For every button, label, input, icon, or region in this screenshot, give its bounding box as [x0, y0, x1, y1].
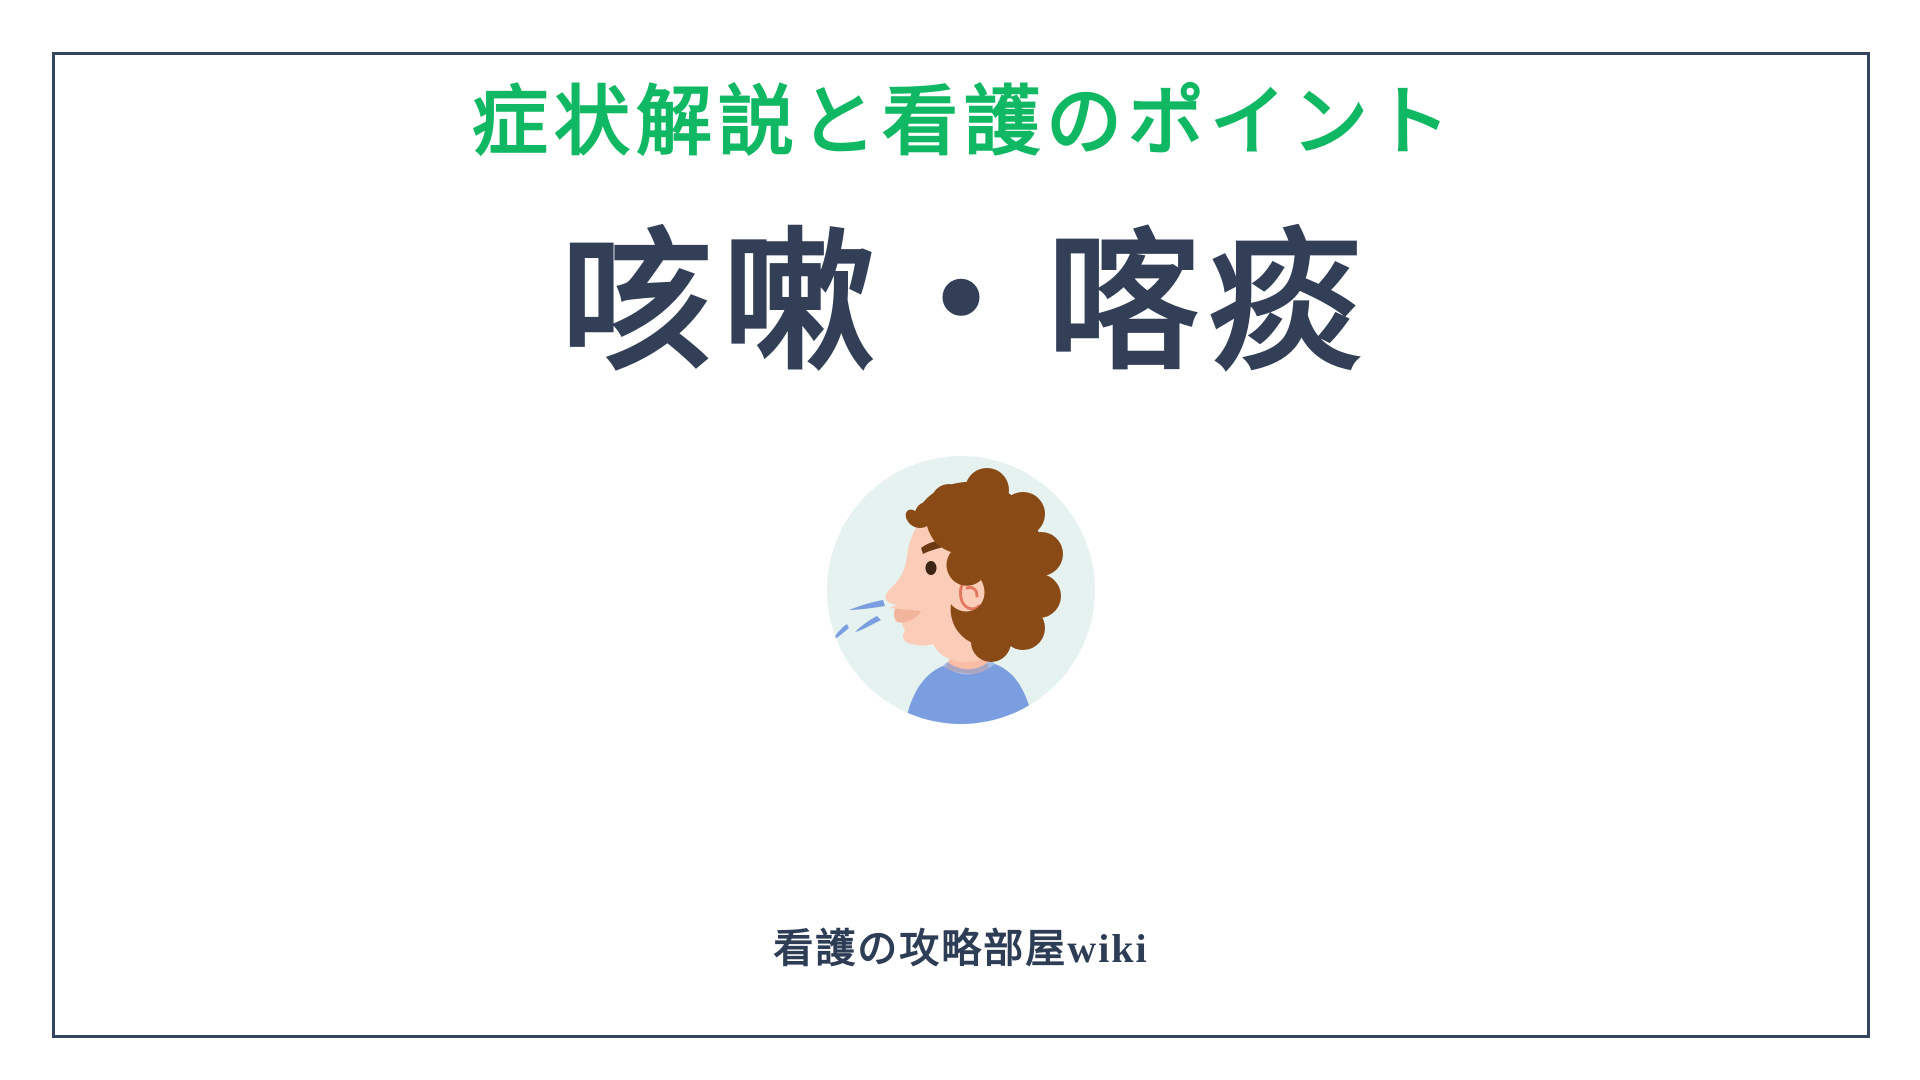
- hair-curl: [1001, 492, 1045, 536]
- page-title: 咳嗽・喀痰: [551, 219, 1371, 389]
- eye: [926, 561, 937, 575]
- hair-curl: [965, 468, 1009, 512]
- slide-content: 症状解説と看護のポイント 咳嗽・喀痰: [52, 52, 1870, 1038]
- hair-curl: [971, 622, 1011, 662]
- coughing-person-illustration: [827, 456, 1095, 724]
- slide-canvas: 症状解説と看護のポイント 咳嗽・喀痰: [0, 0, 1920, 1080]
- hair-curl: [951, 552, 983, 584]
- site-brand: 看護の攻略部屋wiki: [773, 916, 1148, 974]
- slide-subtitle: 症状解説と看護のポイント: [466, 80, 1456, 167]
- hair-curl: [1019, 532, 1063, 576]
